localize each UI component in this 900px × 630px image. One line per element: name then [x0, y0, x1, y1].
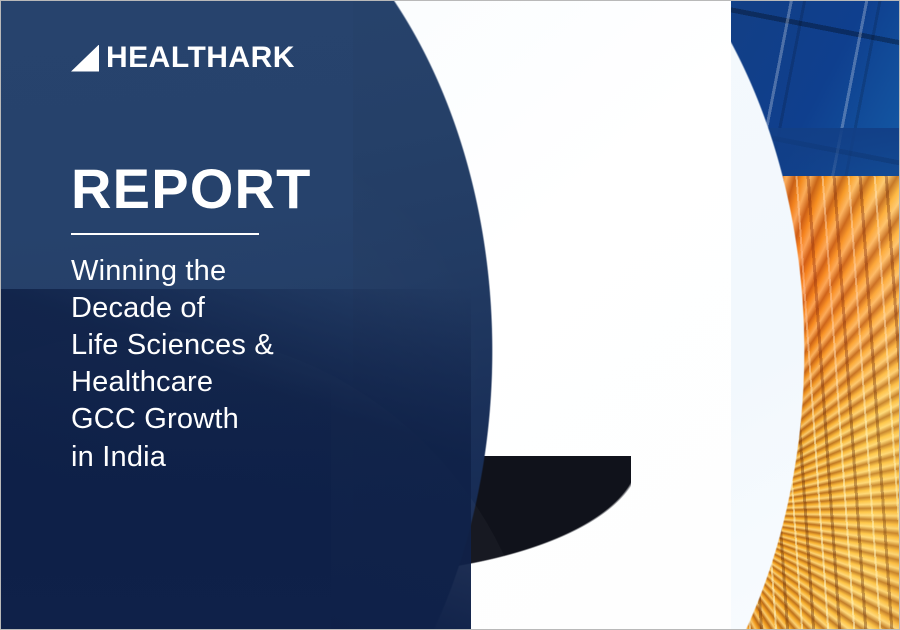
title-divider — [71, 233, 259, 235]
brand-name: HEALTHARK — [106, 43, 295, 73]
page-title: REPORT — [71, 161, 312, 217]
triangle-logo-mark-icon — [71, 45, 99, 72]
healthark-logo: HEALTHARK — [71, 43, 295, 73]
report-subtitle: Winning the Decade of Life Sciences & He… — [71, 253, 331, 476]
report-cover: HEALTHARK REPORT Winning the Decade of L… — [0, 0, 900, 630]
cover-content: HEALTHARK REPORT Winning the Decade of L… — [1, 1, 899, 629]
